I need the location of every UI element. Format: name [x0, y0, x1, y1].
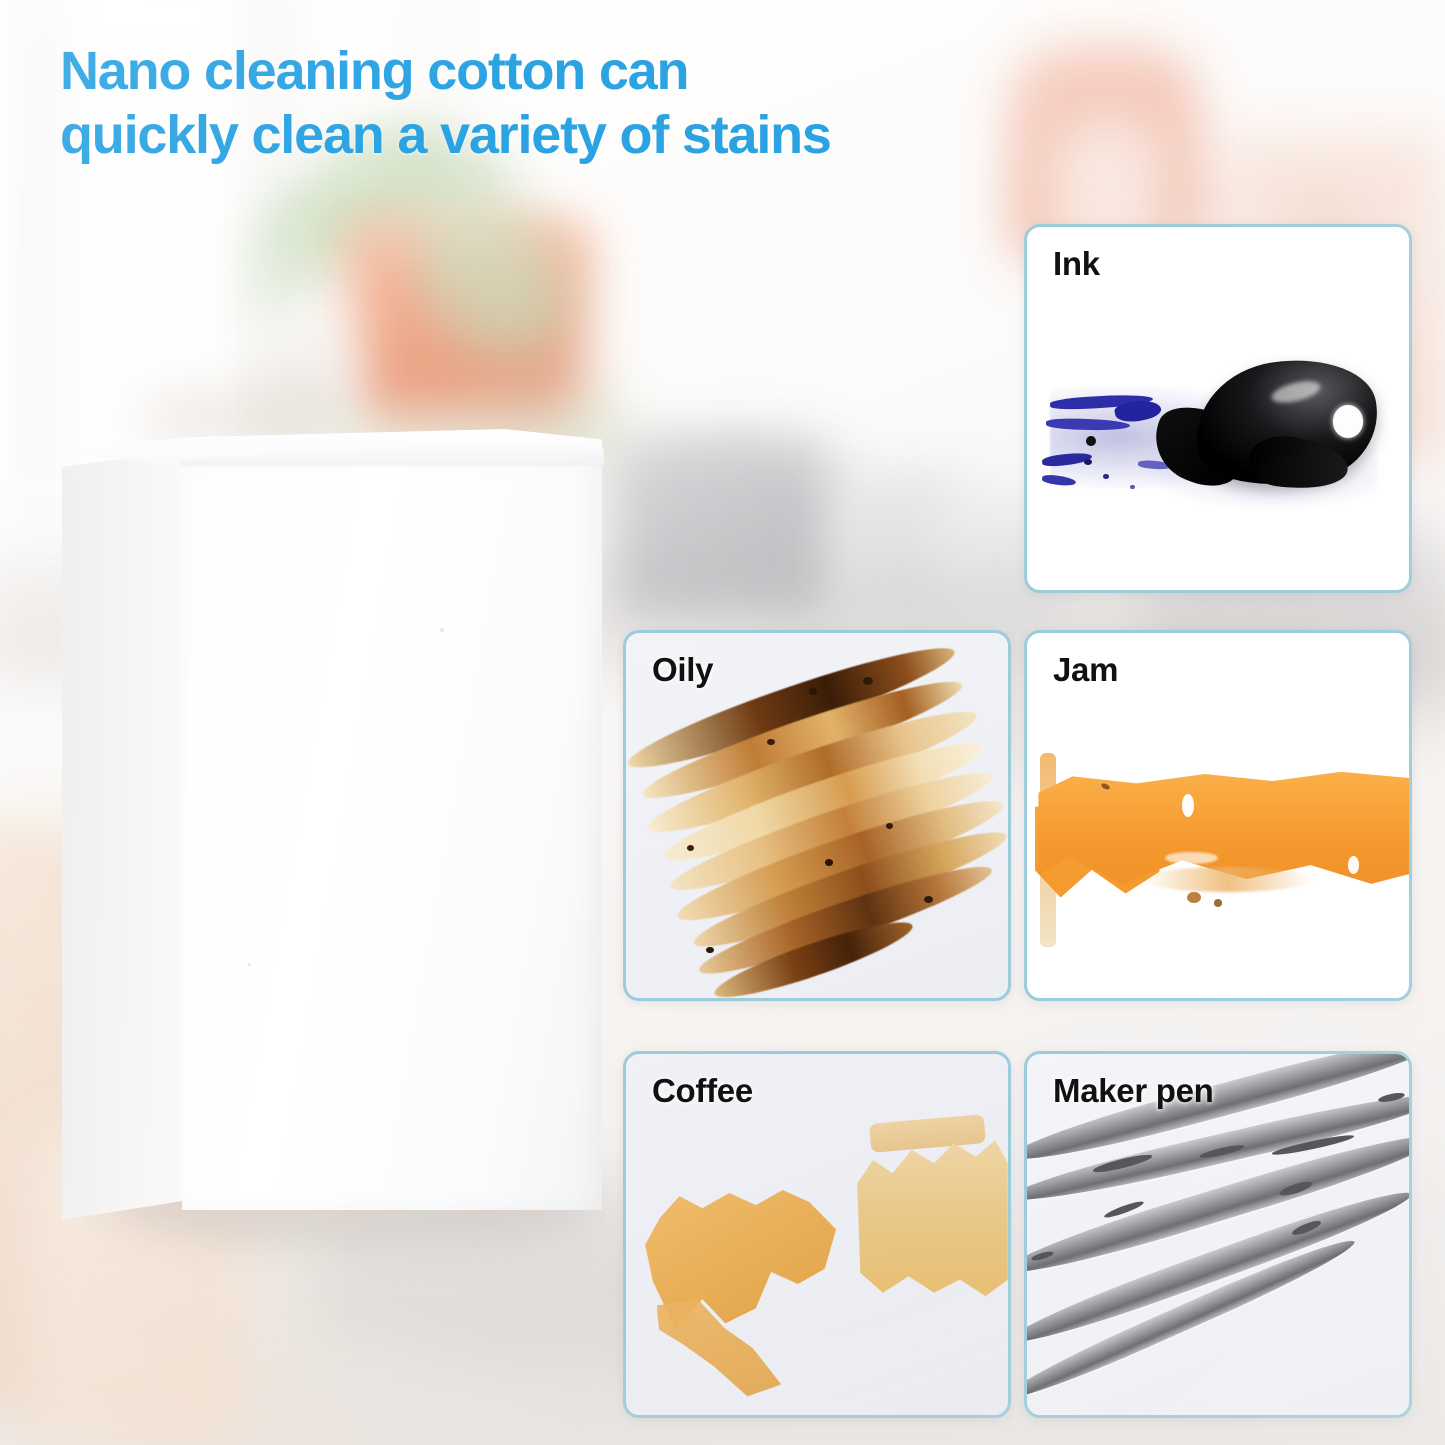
stain-card-jam[interactable]: Jam — [1024, 630, 1412, 1001]
grey-cooking-pot — [610, 455, 840, 620]
oily-speck — [809, 688, 817, 695]
ink-highlight — [1333, 405, 1364, 438]
stain-card-label: Oily — [652, 651, 713, 689]
stain-card-label: Ink — [1053, 245, 1100, 283]
jam-highlight — [1182, 794, 1194, 818]
oily-speck — [863, 677, 873, 685]
window-frame-bar — [30, 0, 46, 540]
sponge-front-face — [182, 458, 602, 1210]
stain-card-oily[interactable]: Oily — [623, 630, 1011, 1001]
infographic-canvas: Nano cleaning cotton can quickly clean a… — [0, 0, 1445, 1445]
coffee-faint-blotch — [848, 1133, 1008, 1299]
stain-card-label: Coffee — [652, 1072, 753, 1110]
stain-card-maker-pen[interactable]: Maker pen — [1024, 1051, 1412, 1418]
sponge-speck — [440, 628, 444, 632]
coffee-splash-edge — [869, 1114, 986, 1153]
jam-seed — [1187, 892, 1201, 903]
oily-speck — [687, 845, 694, 851]
stain-card-coffee[interactable]: Coffee — [623, 1051, 1011, 1418]
oily-speck — [825, 859, 833, 866]
stain-card-ink[interactable]: Ink — [1024, 224, 1412, 593]
ink-droplet — [1103, 474, 1108, 479]
jam-thin-smear — [1142, 867, 1314, 893]
oily-speck — [886, 823, 893, 829]
jam-seed — [1214, 899, 1222, 906]
stain-card-label: Jam — [1053, 651, 1118, 689]
stain-card-label: Maker pen — [1053, 1072, 1214, 1110]
sponge-speck — [248, 963, 251, 966]
sponge-left-face — [62, 450, 184, 1220]
product-sponge-block — [62, 428, 602, 1218]
page-title: Nano cleaning cotton can quickly clean a… — [60, 40, 1120, 167]
ink-droplet — [1130, 485, 1135, 489]
